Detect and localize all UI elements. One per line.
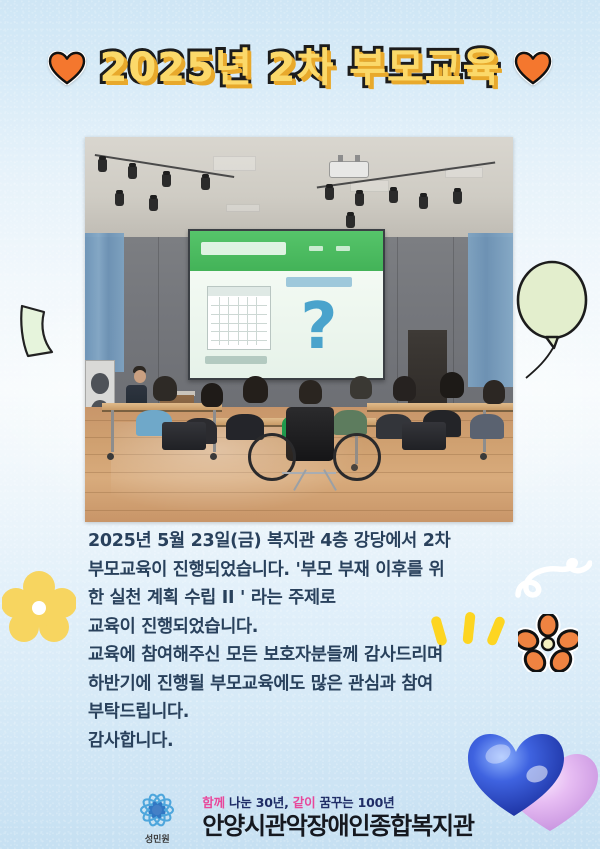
body-paragraph-1: 2025년 5월 23일(금) 복지관 4층 강당에서 2차 부모교육이 진행되… — [88, 527, 520, 641]
tagline-part-3: 같이 — [293, 795, 316, 810]
slide-header — [190, 231, 383, 270]
squiggle-icon — [514, 557, 592, 605]
slide-question-mark: ? — [290, 290, 348, 365]
spotlight-icon — [201, 177, 210, 190]
photo-curtain-right — [468, 233, 513, 387]
slide-text-block — [286, 277, 352, 287]
spotlight-icon — [355, 193, 364, 206]
body-paragraph-2: 교육에 참여해주신 모든 보호자분들께 감사드리며 하반기에 진행될 부모교육에… — [88, 641, 520, 755]
balloon-icon — [512, 258, 596, 380]
photo-chair — [162, 422, 206, 450]
spotlight-icon — [419, 196, 428, 209]
spotlight-icon — [453, 191, 462, 204]
heart-icon — [48, 51, 86, 85]
spotlight-icon — [149, 198, 158, 211]
spotlight-icon — [389, 190, 398, 203]
spotlight-icon — [115, 193, 124, 206]
audience-head — [350, 376, 372, 399]
projector-icon — [329, 161, 369, 178]
slide-body: ? — [190, 271, 383, 378]
page-title: 2025년 2차 부모교육 — [100, 48, 501, 88]
audience-head — [483, 380, 505, 404]
green-ribbon-icon — [14, 300, 58, 362]
audience-head — [153, 376, 177, 401]
photo-curtain-left — [85, 233, 124, 372]
flower-icon — [518, 614, 578, 672]
footer-text-group: 함께 나눈 30년, 같이 꿈꾸는 100년 안양시관악장애인종합복지관 — [202, 795, 473, 839]
slide-text-block — [205, 356, 267, 363]
projection-screen: ? — [188, 229, 385, 379]
tagline-part-4: 꿈꾸는 100년 — [315, 795, 394, 810]
spotlight-icon — [98, 159, 107, 172]
audience-body — [333, 410, 367, 435]
spotlight-icon — [128, 166, 137, 179]
footer-branding: 성민원 함께 나눈 30년, 같이 꿈꾸는 100년 안양시관악장애인종합복지관 — [0, 789, 600, 845]
pinwheel-flower-icon: 성민원 — [126, 789, 188, 845]
audience-head — [201, 383, 223, 407]
tagline-part-2: 나눈 30년, — [225, 795, 293, 810]
audience-head — [299, 380, 322, 404]
slide-calendar-graphic — [207, 286, 271, 350]
poster-title-row: 2025년 2차 부모교육 — [0, 48, 600, 88]
tagline-part-1: 함께 — [202, 795, 225, 810]
audience-body — [470, 414, 504, 439]
spotlight-icon — [162, 174, 171, 187]
audience-head — [440, 372, 464, 398]
audience-head — [393, 376, 416, 401]
photo-chair — [402, 422, 446, 450]
event-photo: ? — [85, 137, 513, 522]
spotlight-icon — [325, 187, 334, 200]
heart-icon — [514, 51, 552, 85]
spotlight-icon — [346, 215, 355, 228]
body-text-block: 2025년 5월 23일(금) 복지관 4층 강당에서 2차 부모교육이 진행되… — [88, 527, 520, 755]
footer-tagline: 함께 나눈 30년, 같이 꿈꾸는 100년 — [202, 795, 394, 811]
audience-head — [243, 376, 268, 403]
organization-name: 안양시관악장애인종합복지관 — [202, 813, 473, 839]
flower-icon — [2, 570, 76, 642]
poster-canvas: 2025년 2차 부모교육 — [0, 0, 600, 849]
wheelchair-wheel — [248, 433, 296, 481]
logo-caption: 성민원 — [126, 832, 188, 845]
